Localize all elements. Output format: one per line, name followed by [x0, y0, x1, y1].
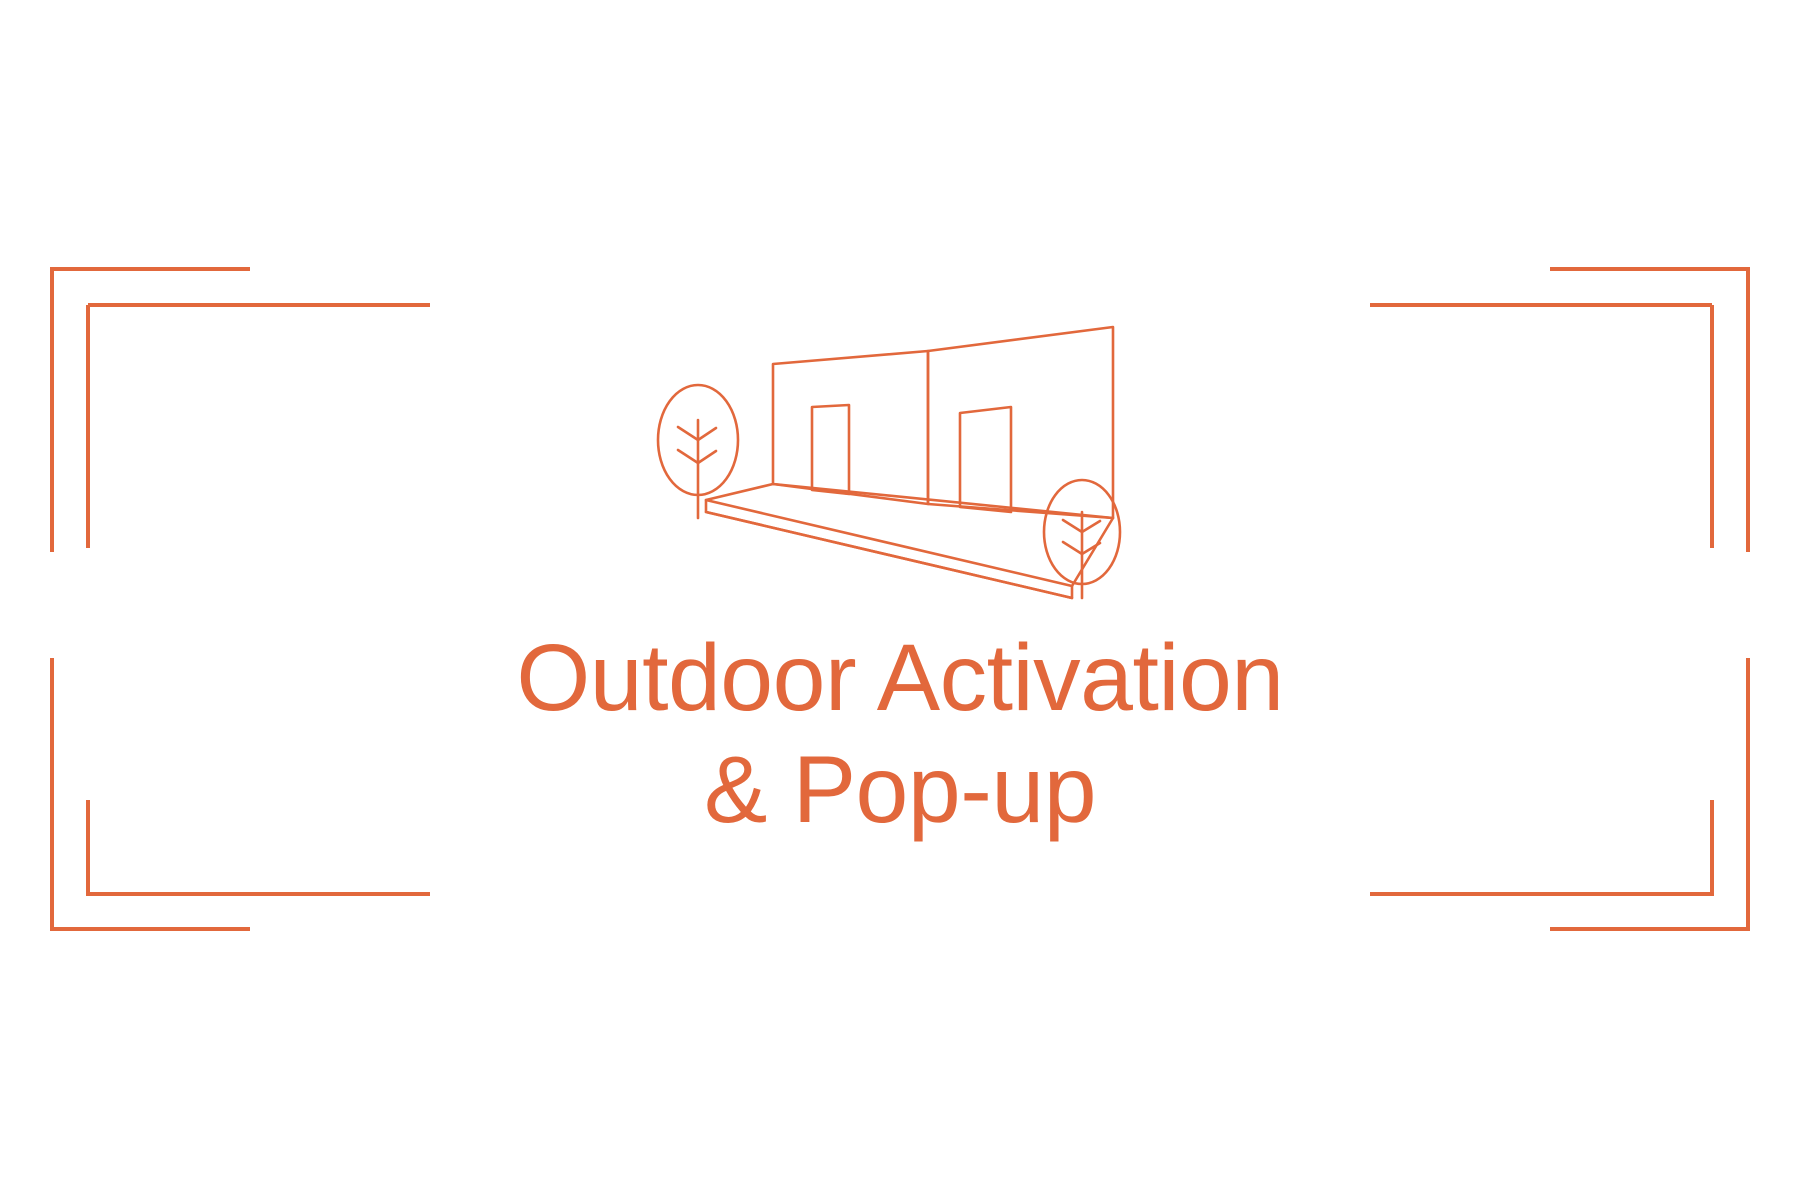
tree-right [1044, 480, 1120, 598]
doorway-left [812, 405, 849, 494]
doorway-right [960, 407, 1011, 512]
tree-left [658, 385, 738, 518]
title-line-2: & Pop-up [516, 734, 1283, 846]
slide-content: Outdoor Activation & Pop-up [0, 0, 1800, 1200]
page-title: Outdoor Activation & Pop-up [516, 622, 1283, 846]
outdoor-pavilion-illustration [640, 300, 1160, 600]
building-wall-right-panel [928, 327, 1113, 518]
title-line-1: Outdoor Activation [516, 622, 1283, 734]
slide-canvas: Outdoor Activation & Pop-up [0, 0, 1800, 1200]
building-wall-left-panel [773, 351, 928, 504]
